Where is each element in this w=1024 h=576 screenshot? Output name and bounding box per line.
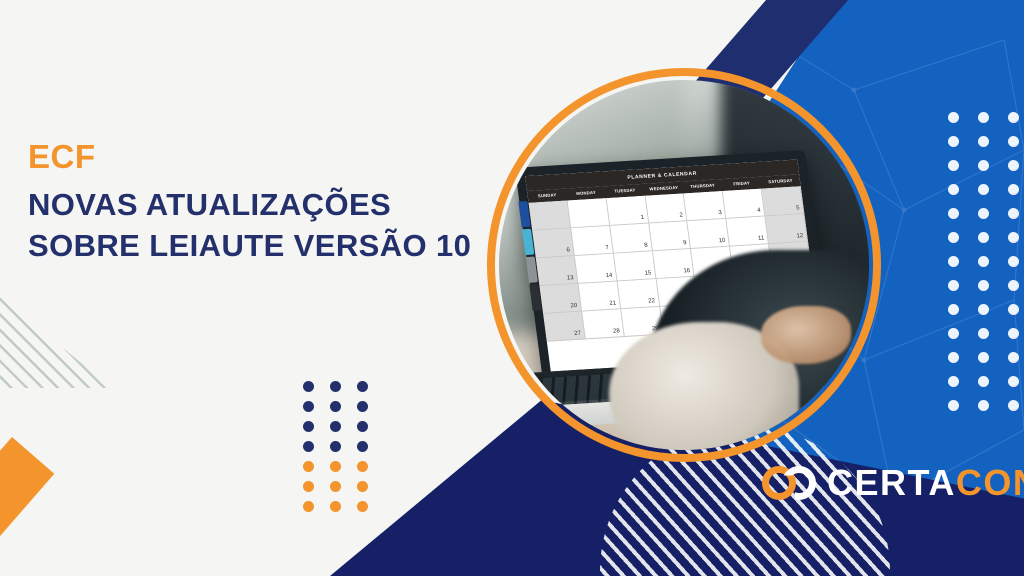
calendar-day-number: 7 [605,245,609,251]
calendar-day-cell[interactable] [567,198,610,228]
dot [1008,232,1019,243]
dot [1008,160,1019,171]
page-title: NOVAS ATUALIZAÇÕES SOBRE LEIAUTE VERSÃO … [28,185,471,267]
dot [948,304,959,315]
calendar-day-number: 16 [683,268,690,274]
dot [978,184,989,195]
calendar-day-number: 5 [796,205,800,211]
dot [330,481,341,492]
dot [330,441,341,452]
calendar-day-cell[interactable]: 6 [532,228,575,258]
dot [330,401,341,412]
dot [948,136,959,147]
dot [978,376,989,387]
title-line-2: SOBRE LEIAUTE VERSÃO 10 [28,226,471,267]
dot [978,328,989,339]
promo-banner: PLANNER & CALENDAR SUNDAYMONDAYTUESDAYWE… [0,0,1024,576]
dot [357,481,368,492]
calendar-day-cell[interactable]: 13 [536,256,579,286]
dot [1008,136,1019,147]
calendar-day-cell[interactable]: 5 [762,186,805,216]
dot [330,421,341,432]
logo-wordmark: CERTACON [827,465,1024,501]
dot [357,421,368,432]
calendar-day-cell[interactable]: 8 [610,224,653,254]
dot [1008,400,1019,411]
gray-hatch-lines [0,292,112,388]
dot [1008,256,1019,267]
calendar-day-number: 10 [718,238,725,244]
dot [978,352,989,363]
dot [357,461,368,472]
calendar-day-number: 9 [683,240,687,246]
dot [303,481,314,492]
calendar-day-number: 21 [609,301,616,307]
calendar-day-number: 15 [644,270,651,276]
dot [978,304,989,315]
dot [330,461,341,472]
dot [948,112,959,123]
dot [948,400,959,411]
person-hand [761,306,851,364]
dot [948,280,959,291]
dot [303,421,314,432]
dot [1008,376,1019,387]
calendar-day-cell[interactable]: 10 [688,219,731,249]
calendar-day-cell[interactable]: 1 [606,196,649,226]
calendar-day-cell[interactable]: 28 [582,309,625,339]
calendar-day-cell[interactable]: 9 [649,221,692,251]
dot [303,501,314,512]
logo-text-con: CON [956,462,1024,503]
dot [357,441,368,452]
calendar-day-cell[interactable]: 4 [723,189,766,219]
calendar-day-cell[interactable]: 2 [645,193,688,223]
calendar-day-number: 6 [566,247,570,253]
interlocking-circles-logo-mark-icon [762,463,818,503]
dot [978,160,989,171]
logo-text-certa: CERTA [827,462,956,503]
dot [1008,352,1019,363]
certacon-logo[interactable]: CERTACON [762,463,1024,503]
white-dot-grid [948,112,1019,411]
calendar-day-cell[interactable]: 14 [575,254,618,284]
calendar-day-cell[interactable]: 20 [540,284,583,314]
calendar-day-cell[interactable]: 15 [614,251,657,281]
calendar-day-number: 8 [644,243,648,249]
calendar-day-cell[interactable]: 22 [617,279,660,309]
calendar-day-cell[interactable]: 3 [684,191,727,221]
dot [948,160,959,171]
dot [948,376,959,387]
dot [978,208,989,219]
calendar-day-cell[interactable]: 11 [727,216,770,246]
dot [357,401,368,412]
calendar-day-number: 20 [570,303,577,309]
calendar-day-number: 2 [679,213,683,219]
dot [357,381,368,392]
dot [978,232,989,243]
calendar-day-cell[interactable]: 27 [543,312,586,342]
headline-block: ECF NOVAS ATUALIZAÇÕES SOBRE LEIAUTE VER… [28,140,471,267]
dot [357,501,368,512]
dot [978,256,989,267]
dot [303,441,314,452]
dot [330,381,341,392]
dot [1008,184,1019,195]
title-line-1: NOVAS ATUALIZAÇÕES [28,185,471,226]
calendar-day-cell[interactable]: 7 [571,226,614,256]
dot [1008,328,1019,339]
dot [1008,208,1019,219]
calendar-day-number: 4 [757,208,761,214]
kicker-text: ECF [28,140,471,173]
dot [978,400,989,411]
dot [948,184,959,195]
dot [948,352,959,363]
dot [948,208,959,219]
dot [303,461,314,472]
calendar-day-cell[interactable]: 21 [578,281,621,311]
dot [948,328,959,339]
dot [1008,304,1019,315]
calendar-day-number: 22 [648,298,655,304]
calendar-day-number: 27 [574,331,581,337]
calendar-day-number: 1 [640,215,644,221]
dot [948,256,959,267]
dot [330,501,341,512]
dot [303,401,314,412]
navy-orange-dot-grid [303,381,368,512]
dot [1008,112,1019,123]
hero-photo-circle: PLANNER & CALENDAR SUNDAYMONDAYTUESDAYWE… [499,80,869,450]
dot [948,232,959,243]
orange-diagonal-bar-thick [0,437,54,576]
dot [978,112,989,123]
calendar-day-number: 13 [567,275,574,281]
calendar-day-number: 14 [605,273,612,279]
calendar-day-number: 12 [796,233,803,239]
dot [303,381,314,392]
dot [978,280,989,291]
calendar-day-cell[interactable] [529,201,572,231]
calendar-day-cell[interactable]: 16 [653,249,696,279]
calendar-day-number: 11 [758,236,765,242]
calendar-day-cell[interactable]: 12 [766,214,809,244]
calendar-day-number: 3 [718,210,722,216]
calendar-day-number: 28 [613,328,620,334]
dot [978,136,989,147]
dot [1008,280,1019,291]
